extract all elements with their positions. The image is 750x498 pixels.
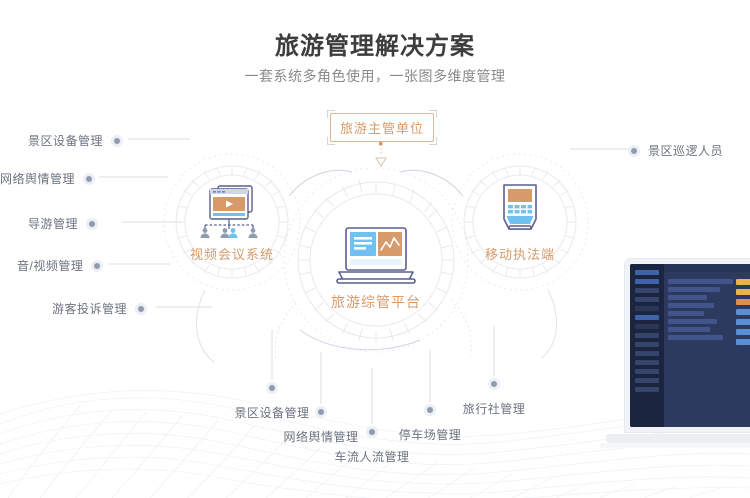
laptop-dashboard-icon <box>333 226 419 288</box>
video-window-icon <box>196 182 268 238</box>
node-mobile-enforcement-label: 移动执法端 <box>460 244 580 263</box>
bottom-item-4[interactable]: 旅行社管理 <box>444 374 544 417</box>
node-platform[interactable]: 旅游综管平台 <box>316 226 436 314</box>
badge-corner-tl <box>327 110 335 118</box>
node-mobile-enforcement[interactable]: 移动执法端 <box>460 182 580 266</box>
laptop-base-shadow <box>600 443 750 448</box>
node-video-conference-label: 视频会议系统 <box>172 244 292 263</box>
badge-corner-tr <box>429 110 437 118</box>
left-item-1[interactable]: 网络舆情管理 <box>0 170 95 187</box>
page-title: 旅游管理解决方案 <box>0 26 750 61</box>
bottom-item-2-label: 车流人流管理 <box>322 448 422 465</box>
dashboard-sidebar-mock <box>630 264 664 427</box>
dashboard-mockup <box>630 264 750 427</box>
bottom-item-3-label: 停车场管理 <box>380 426 480 443</box>
left-item-2[interactable]: 导游管理 <box>28 215 98 232</box>
badge-corner-bl <box>327 137 335 145</box>
bottom-item-1-dot <box>315 406 327 418</box>
node-video-conference[interactable]: 视频会议系统 <box>172 182 292 266</box>
left-item-0[interactable]: 景区设备管理 <box>28 132 123 149</box>
bottom-item-4-label: 旅行社管理 <box>444 400 544 417</box>
badge-corner-br <box>429 137 437 145</box>
authority-badge-label: 旅游主管单位 <box>340 118 424 137</box>
left-item-3-label: 音/视频管理 <box>17 257 83 274</box>
left-item-1-dot <box>83 173 95 185</box>
right-item-0-dot <box>628 145 640 157</box>
node-platform-label: 旅游综管平台 <box>316 292 436 312</box>
left-item-2-dot <box>86 218 98 230</box>
page-subtitle: 一套系统多角色使用，一张图多维度管理 <box>0 66 750 86</box>
laptop-base <box>606 434 750 443</box>
left-item-3-dot <box>91 260 103 272</box>
left-item-0-label: 景区设备管理 <box>28 132 103 149</box>
bottom-item-2-dot <box>366 426 378 438</box>
right-item-0-label: 景区巡逻人员 <box>648 142 723 159</box>
dashboard-content-mock <box>664 264 750 427</box>
left-item-4-dot <box>135 303 147 315</box>
right-item-0[interactable]: 景区巡逻人员 <box>628 142 723 159</box>
left-item-0-dot <box>111 135 123 147</box>
mobile-device-icon <box>498 182 542 236</box>
solution-diagram-page: 旅游主管单位 旅游管理解决方案 一套系统多角色使用，一张图多维度管理 <box>0 0 750 498</box>
laptop-mockup <box>624 258 750 463</box>
left-item-4-label: 游客投诉管理 <box>52 300 127 317</box>
left-item-1-label: 网络舆情管理 <box>0 170 75 187</box>
bottom-item-3-dot <box>424 404 436 416</box>
authority-badge[interactable]: 旅游主管单位 <box>330 113 434 142</box>
left-item-3[interactable]: 音/视频管理 <box>17 257 103 274</box>
bottom-item-0-dot <box>266 382 278 394</box>
left-item-2-label: 导游管理 <box>28 215 78 232</box>
left-item-4[interactable]: 游客投诉管理 <box>52 300 147 317</box>
bottom-item-4-dot <box>488 378 500 390</box>
